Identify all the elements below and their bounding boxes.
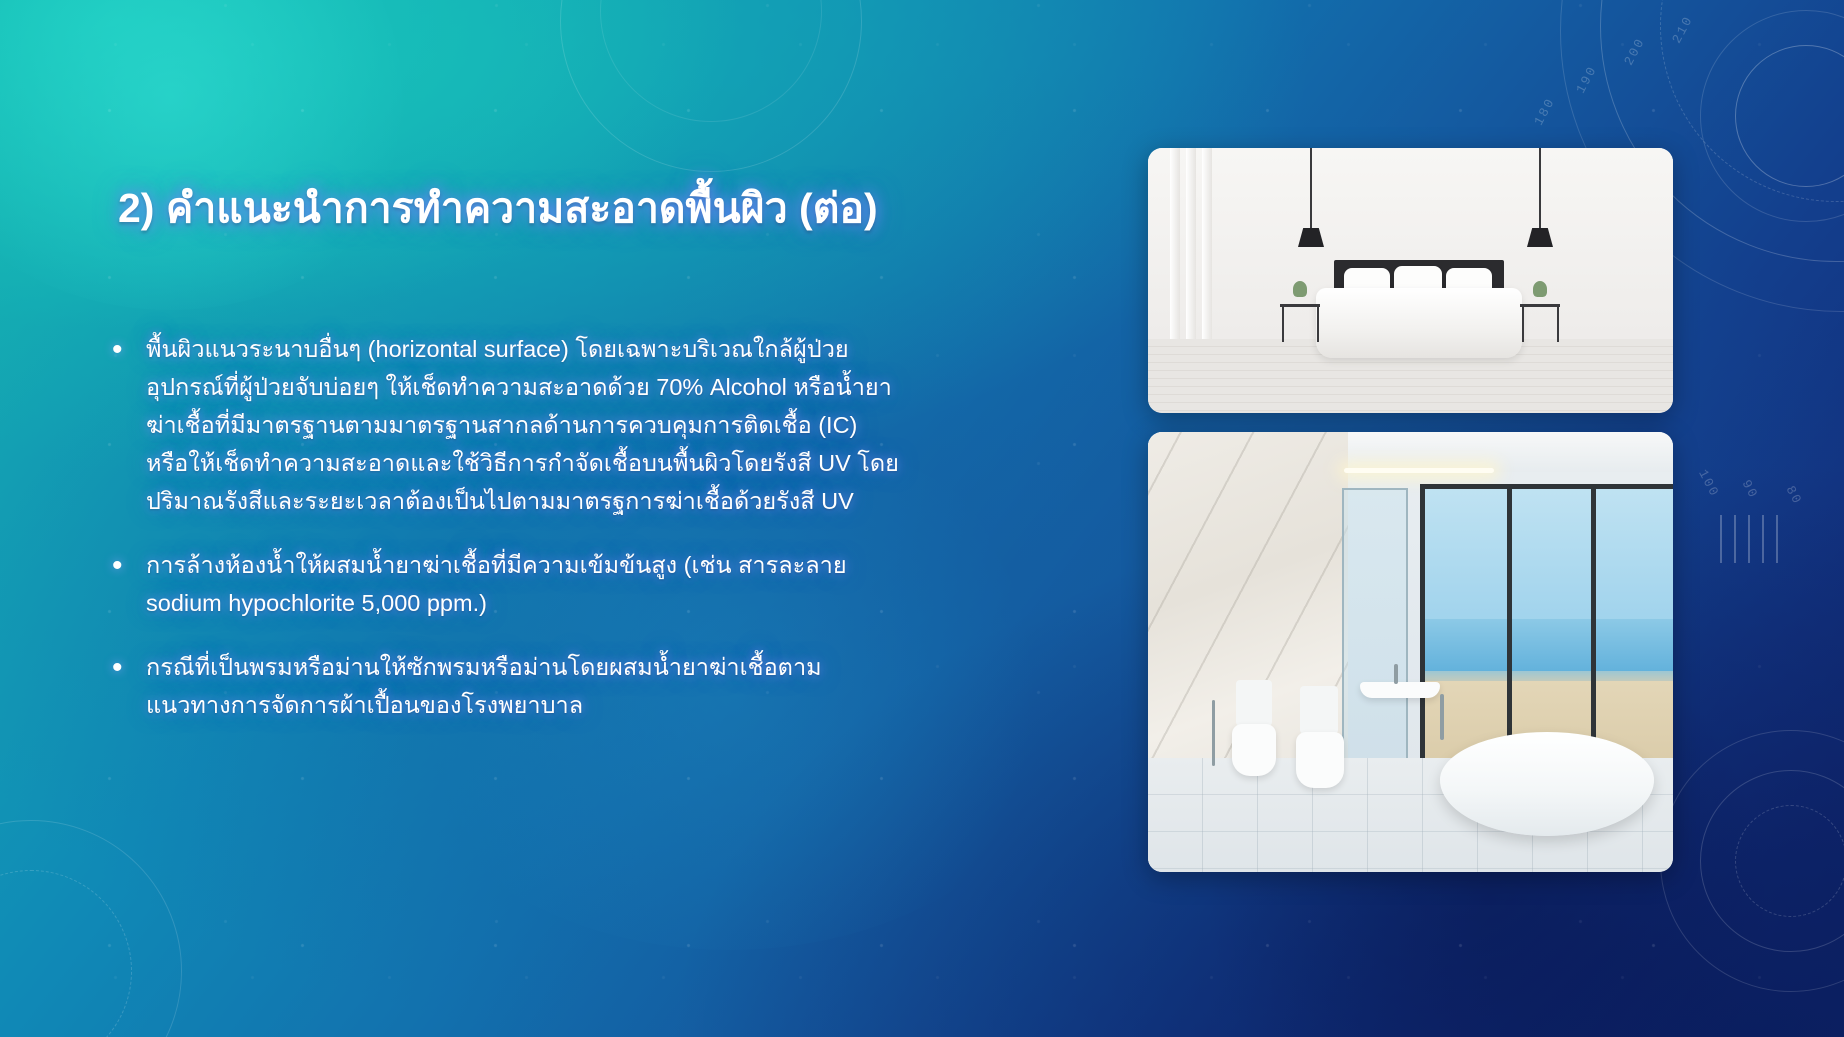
bedroom-photo	[1148, 148, 1673, 413]
bedroom-pendant-cord-right	[1539, 148, 1541, 230]
bullet-list: • พื้นผิวแนวระนาบอื่นๆ (horizontal surfa…	[112, 330, 902, 750]
list-item: • การล้างห้องน้ำให้ผสมน้ำยาฆ่าเชื้อที่มี…	[112, 546, 902, 622]
bedroom-nightstand-left-leg-b	[1317, 306, 1319, 342]
bullet-text: กรณีที่เป็นพรมหรือม่านให้ซักพรมหรือม่านโ…	[146, 648, 902, 724]
bathroom-toilet	[1296, 732, 1344, 788]
bedroom-pillar-left2	[1186, 148, 1196, 339]
bathroom-bidet	[1232, 724, 1276, 776]
bedroom-pillar-left3	[1202, 148, 1212, 339]
decor-number-200: 200	[1621, 35, 1648, 68]
decor-number-80: 80	[1783, 483, 1805, 507]
background-glow-top-left	[0, 0, 430, 310]
decor-number-100: 100	[1695, 467, 1722, 500]
decor-number-190: 190	[1573, 63, 1600, 96]
bedroom-pillar-left	[1170, 148, 1180, 339]
bedroom-nightstand-right-leg-a	[1522, 306, 1524, 342]
bullet-dot-icon: •	[112, 648, 146, 724]
bedroom-nightstand-left-leg-a	[1282, 306, 1284, 342]
bullet-text: พื้นผิวแนวระนาบอื่นๆ (horizontal surface…	[146, 330, 902, 520]
list-item: • พื้นผิวแนวระนาบอื่นๆ (horizontal surfa…	[112, 330, 902, 520]
decor-number-90: 90	[1739, 477, 1761, 501]
bathroom-tub-faucet	[1440, 694, 1444, 740]
bathroom-window-sea	[1425, 619, 1673, 671]
page-title: 2) คำแนะนำการทำความสะอาดพื้นผิว (ต่อ)	[118, 176, 878, 241]
bullet-dot-icon: •	[112, 330, 146, 520]
list-item: • กรณีที่เป็นพรมหรือม่านให้ซักพรมหรือม่า…	[112, 648, 902, 724]
bedroom-nightstand-right-leg-b	[1557, 306, 1559, 342]
bedroom-scene	[1148, 148, 1673, 413]
bullet-text: การล้างห้องน้ำให้ผสมน้ำยาฆ่าเชื้อที่มีคว…	[146, 546, 902, 622]
bedroom-nightstand-left	[1280, 304, 1320, 307]
bathroom-scene	[1148, 432, 1673, 872]
bathroom-glass-partition	[1342, 488, 1408, 792]
bullet-dot-icon: •	[112, 546, 146, 622]
bathroom-sink-faucet	[1394, 664, 1398, 684]
bathroom-towel-rail	[1212, 700, 1215, 766]
decor-number-180: 180	[1531, 95, 1558, 128]
bathroom-photo	[1148, 432, 1673, 872]
bathroom-bidet-cistern	[1236, 680, 1272, 726]
bathroom-toilet-cistern	[1300, 686, 1338, 734]
decor-number-210: 210	[1669, 13, 1696, 46]
bathroom-sink	[1360, 682, 1440, 698]
bedroom-plant-left	[1293, 281, 1307, 297]
bedroom-nightstand-right	[1520, 304, 1560, 307]
bedroom-bed	[1316, 288, 1522, 358]
bathroom-light-strip	[1344, 468, 1494, 473]
slide-canvas: 210 200 190 180 110 100 90 80 2) คำแนะนำ…	[0, 0, 1844, 1037]
bedroom-plant-right	[1533, 281, 1547, 297]
bedroom-pendant-cord-left	[1310, 148, 1312, 230]
